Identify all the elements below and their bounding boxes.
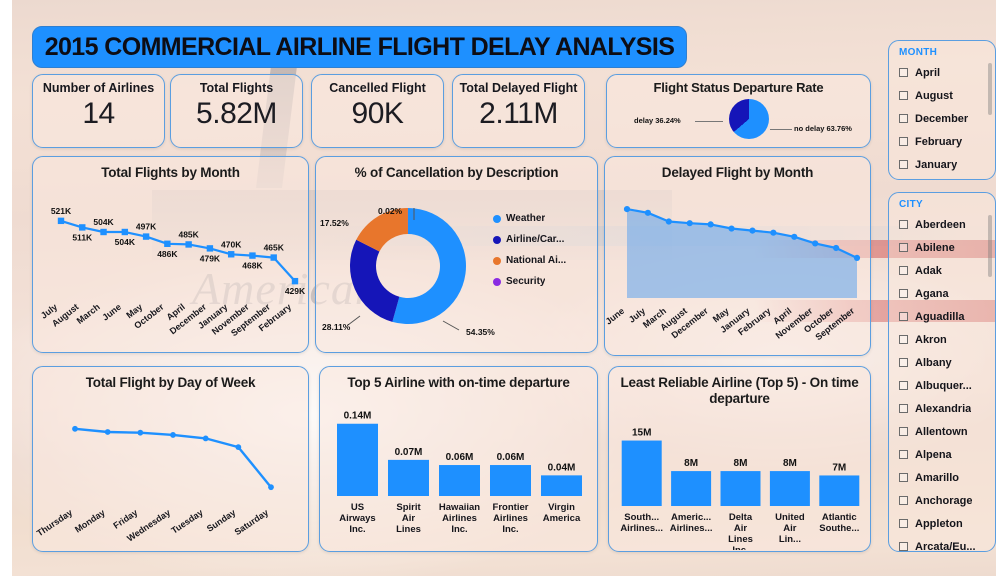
slicer-item[interactable]: Amarillo [899, 466, 991, 489]
data-label: 504K [115, 237, 136, 247]
bar[interactable] [337, 424, 378, 496]
pie-leader-line-delay [695, 121, 723, 122]
checkbox-icon[interactable] [899, 220, 908, 229]
checkbox-icon[interactable] [899, 381, 908, 390]
chart-card-top-5-airline-on-time[interactable]: Top 5 Airline with on-time departure 0.1… [319, 366, 598, 552]
bar-chart-top-5-airline-on-time[interactable]: 0.14MUSAirwaysInc.0.07MSpiritAirLines0.0… [320, 390, 599, 548]
bar-category-label: Lines [396, 524, 421, 535]
bar-data-label: 8M [684, 458, 698, 469]
kpi-card-number-of-airlines[interactable]: Number of Airlines 14 [32, 74, 165, 148]
bar-category-label: Virgin [548, 502, 575, 513]
slicer-month[interactable]: MONTH AprilAugustDecemberFebruaryJanuary [888, 40, 996, 180]
bar-data-label: 8M [783, 458, 797, 469]
legend-item[interactable]: National Ai... [493, 255, 589, 266]
slicer-item[interactable]: August [899, 84, 991, 107]
bar[interactable] [388, 460, 429, 496]
donut-legend: WeatherAirline/Car...National Ai...Secur… [493, 213, 589, 297]
x-axis-label: June [100, 302, 123, 323]
chart-title: Total Flight by Day of Week [33, 367, 308, 390]
legend-item[interactable]: Security [493, 276, 589, 287]
bar-category-label: Lines [728, 534, 753, 545]
kpi-value: 90K [312, 97, 443, 131]
data-point[interactable] [833, 245, 839, 251]
chart-title: Flight Status Departure Rate [607, 80, 870, 95]
slicer-item-label: April [915, 67, 940, 79]
bar-category-label: Lin... [779, 534, 801, 545]
slicer-item[interactable]: Appleton [899, 512, 991, 535]
checkbox-icon[interactable] [899, 519, 908, 528]
bar-category-label: South... [624, 512, 659, 523]
page-title: 2015 COMMERCIAL AIRLINE FLIGHT DELAY ANA… [45, 33, 675, 62]
pie-slices [729, 99, 769, 139]
checkbox-icon[interactable] [899, 358, 908, 367]
kpi-card-cancelled-flight[interactable]: Cancelled Flight 90K [311, 74, 444, 148]
data-point[interactable] [185, 241, 191, 247]
kpi-card-total-flights[interactable]: Total Flights 5.82M [170, 74, 303, 148]
checkbox-icon[interactable] [899, 137, 908, 146]
slicer-month-scrollbar[interactable] [988, 63, 992, 115]
data-point[interactable] [249, 252, 255, 258]
bar-category-label: Spirit [396, 502, 421, 513]
bar-category-label: Airlines [442, 513, 477, 524]
dashboard-title-banner: 2015 COMMERCIAL AIRLINE FLIGHT DELAY ANA… [32, 26, 687, 68]
bar-category-label: Inc. [349, 524, 365, 535]
area-fill [627, 209, 857, 298]
donut-leader-line [443, 321, 459, 330]
bar-category-label: Airlines... [620, 523, 663, 534]
donut-slice[interactable] [350, 240, 399, 322]
data-label: 497K [136, 222, 157, 232]
slicer-item-label: Allentown [915, 426, 968, 438]
data-label: 470K [221, 239, 242, 249]
bar-data-label: 0.07M [395, 447, 423, 458]
bar[interactable] [622, 441, 662, 506]
bar[interactable] [541, 475, 582, 496]
x-axis-label: Thursday [35, 507, 74, 538]
slicer-item-label: January [915, 159, 957, 171]
data-point[interactable] [624, 206, 630, 212]
slicer-city[interactable]: CITY AberdeenAbileneAdakAganaAguadillaAk… [888, 192, 996, 552]
legend-label: Security [506, 276, 545, 287]
chart-card-pct-cancellation-by-description[interactable]: % of Cancellation by Description 54.35%2… [315, 156, 598, 353]
data-point[interactable] [105, 429, 111, 435]
data-point[interactable] [728, 225, 734, 231]
x-axis-label: Saturday [233, 507, 271, 537]
kpi-label: Number of Airlines [33, 81, 164, 95]
slicer-item[interactable]: Aguadilla [899, 305, 991, 328]
checkbox-icon[interactable] [899, 243, 908, 252]
slicer-item-label: Adak [915, 265, 942, 277]
slicer-item[interactable]: Aberdeen [899, 213, 991, 236]
slicer-city-header: CITY [889, 193, 995, 213]
data-point[interactable] [100, 229, 106, 235]
chart-title: Total Flights by Month [33, 157, 308, 180]
slicer-item[interactable]: January [899, 153, 991, 176]
checkbox-icon[interactable] [899, 289, 908, 298]
slicer-item-label: February [915, 136, 962, 148]
kpi-value: 5.82M [171, 97, 302, 131]
data-label: 429K [285, 286, 306, 296]
x-axis-label: March [75, 302, 102, 326]
bar-data-label: 0.04M [548, 462, 576, 473]
bar-category-label: Air [734, 523, 748, 534]
chart-title: Top 5 Airline with on-time departure [320, 367, 597, 390]
donut-chart-cancellation[interactable]: 54.35%28.11%17.52%0.02% [316, 180, 496, 348]
legend-label: Airline/Car... [506, 234, 564, 245]
chart-card-total-flight-by-day-of-week[interactable]: Total Flight by Day of Week ThursdayMond… [32, 366, 309, 552]
bar-category-label: US [351, 502, 364, 513]
slicer-item-label: Arcata/Eu... [915, 541, 976, 553]
dashboard-canvas: American 2015 COMMERCIAL AIRLINE FLIGHT … [12, 0, 996, 576]
data-point[interactable] [292, 278, 298, 284]
kpi-label: Cancelled Flight [312, 81, 443, 95]
slicer-item[interactable]: Alpena [899, 443, 991, 466]
bar-category-label: Delta [729, 512, 753, 523]
checkbox-icon[interactable] [899, 91, 908, 100]
slicer-item-label: Alexandria [915, 403, 971, 415]
data-label: 504K [93, 217, 114, 227]
data-point[interactable] [203, 436, 209, 442]
slicer-item-label: Abilene [915, 242, 955, 254]
checkbox-icon[interactable] [899, 68, 908, 77]
checkbox-icon[interactable] [899, 404, 908, 413]
data-point[interactable] [122, 229, 128, 235]
slicer-item[interactable]: Anchorage [899, 489, 991, 512]
slicer-item[interactable]: April [899, 61, 991, 84]
legend-color-dot [493, 257, 501, 265]
bar-category-label: Americ... [671, 512, 711, 523]
checkbox-icon[interactable] [899, 450, 908, 459]
bar[interactable] [819, 475, 859, 506]
kpi-card-total-delayed-flight[interactable]: Total Delayed Flight 2.11M [452, 74, 585, 148]
kpi-label: Total Flights [171, 81, 302, 95]
bar[interactable] [721, 471, 761, 506]
data-point[interactable] [770, 230, 776, 236]
x-axis-label: Friday [111, 507, 139, 530]
bar[interactable] [439, 465, 480, 496]
bar-data-label: 0.06M [446, 452, 474, 463]
data-label: 485K [178, 229, 199, 239]
data-point[interactable] [228, 251, 234, 257]
slicer-city-list[interactable]: AberdeenAbileneAdakAganaAguadillaAkronAl… [889, 213, 995, 552]
bar-data-label: 7M [832, 462, 846, 473]
slicer-month-list[interactable]: AprilAugustDecemberFebruaryJanuary [889, 61, 995, 176]
bar-category-label: Inc. [451, 524, 467, 535]
slicer-item-label: December [915, 113, 968, 125]
data-label: 486K [157, 249, 178, 259]
legend-label: Weather [506, 213, 545, 224]
donut-data-label: 17.52% [320, 218, 349, 228]
pie-label-no-delay: no delay 63.76% [794, 124, 852, 133]
data-point[interactable] [235, 444, 241, 450]
kpi-label: Total Delayed Flight [453, 81, 584, 95]
bar-category-label: Atlantic [822, 512, 857, 523]
data-point[interactable] [666, 218, 672, 224]
data-point[interactable] [207, 245, 213, 251]
bar[interactable] [770, 471, 810, 506]
data-point[interactable] [791, 234, 797, 240]
slicer-item[interactable]: February [899, 130, 991, 153]
donut-data-label: 28.11% [322, 322, 351, 332]
slicer-item[interactable]: Allentown [899, 420, 991, 443]
slicer-item[interactable]: December [899, 107, 991, 130]
bar-category-label: Air [402, 513, 416, 524]
x-axis-label: Tuesday [169, 507, 204, 535]
data-label: 465K [264, 243, 285, 253]
chart-card-least-reliable-airline[interactable]: Least Reliable Airline (Top 5) - On time… [608, 366, 871, 552]
checkbox-icon[interactable] [899, 473, 908, 482]
slicer-item[interactable]: Agana [899, 282, 991, 305]
slicer-item-label: Appleton [915, 518, 963, 530]
data-label: 521K [51, 206, 72, 216]
slicer-item-label: Akron [915, 334, 947, 346]
bar-category-label: Airlines... [670, 523, 713, 534]
x-axis-label: Monday [73, 507, 107, 534]
slicer-item-label: Aberdeen [915, 219, 966, 231]
checkbox-icon[interactable] [899, 542, 908, 551]
legend-color-dot [493, 236, 501, 244]
data-point[interactable] [268, 484, 274, 490]
bar-data-label: 8M [734, 458, 748, 469]
bar-data-label: 0.06M [497, 452, 525, 463]
checkbox-icon[interactable] [899, 427, 908, 436]
chart-title: % of Cancellation by Description [316, 157, 597, 180]
line-chart-total-flights-by-month[interactable]: 521KJuly511KAugust504KMarch504KJune497KM… [33, 180, 310, 348]
bar-category-label: Airways [339, 513, 375, 524]
bar-category-label: Inc. [502, 524, 518, 535]
legend-color-dot [493, 278, 501, 286]
slicer-item-label: Albuquer... [915, 380, 972, 392]
pie-leader-line-no-delay [770, 129, 792, 130]
data-point[interactable] [749, 228, 755, 234]
chart-title: Delayed Flight by Month [605, 157, 870, 180]
slicer-city-scrollbar[interactable] [988, 215, 992, 277]
pie-label-delay: delay 36.24% [634, 116, 681, 125]
chart-card-flight-status-departure-rate[interactable]: Flight Status Departure Rate delay 36.24… [606, 74, 871, 148]
bar-category-label: America [543, 513, 581, 524]
data-label: 479K [200, 253, 221, 263]
data-point[interactable] [708, 221, 714, 227]
bar-category-label: Southe... [819, 523, 859, 534]
data-point[interactable] [854, 255, 860, 261]
slicer-item-label: Anchorage [915, 495, 972, 507]
legend-color-dot [493, 215, 501, 223]
data-point[interactable] [137, 430, 143, 436]
data-point[interactable] [143, 233, 149, 239]
chart-card-delayed-flight-by-month[interactable]: Delayed Flight by Month JuneJulyMarchAug… [604, 156, 871, 356]
data-point[interactable] [271, 254, 277, 260]
data-label: 511K [72, 232, 93, 242]
bar-data-label: 0.14M [344, 411, 372, 422]
checkbox-icon[interactable] [899, 312, 908, 321]
chart-card-total-flights-by-month[interactable]: Total Flights by Month 521KJuly511KAugus… [32, 156, 309, 353]
bar-category-label: Inc. [732, 545, 748, 550]
slicer-item-label: Aguadilla [915, 311, 965, 323]
bar-category-label: Hawaiian [439, 502, 480, 513]
bar-category-label: Airlines [493, 513, 528, 524]
donut-data-label: 54.35% [466, 327, 495, 337]
slicer-item-label: Alpena [915, 449, 952, 461]
data-point[interactable] [687, 220, 693, 226]
data-point[interactable] [170, 432, 176, 438]
area-chart-delayed-flight-by-month[interactable]: JuneJulyMarchAugustDecemberMayJanuaryFeb… [605, 180, 872, 350]
data-point[interactable] [812, 240, 818, 246]
slicer-item[interactable]: Alexandria [899, 397, 991, 420]
kpi-value: 2.11M [453, 97, 584, 131]
slicer-month-header: MONTH [889, 41, 995, 61]
slicer-item[interactable]: Albuquer... [899, 374, 991, 397]
bar-category-label: United [775, 512, 805, 523]
slicer-item-label: Albany [915, 357, 952, 369]
slicer-item-label: Agana [915, 288, 949, 300]
data-point[interactable] [79, 224, 85, 230]
legend-label: National Ai... [506, 255, 566, 266]
slicer-item[interactable]: Akron [899, 328, 991, 351]
checkbox-icon[interactable] [899, 114, 908, 123]
x-axis-label: June [605, 306, 626, 327]
slicer-item-label: August [915, 90, 953, 102]
data-label: 468K [242, 261, 263, 271]
data-point[interactable] [645, 210, 651, 216]
checkbox-icon[interactable] [899, 335, 908, 344]
bar-category-label: Air [783, 523, 797, 534]
legend-item[interactable]: Weather [493, 213, 589, 224]
checkbox-icon[interactable] [899, 496, 908, 505]
chart-title: Least Reliable Airline (Top 5) - On time… [609, 367, 870, 406]
bar[interactable] [671, 471, 711, 506]
data-point[interactable] [72, 426, 78, 432]
checkbox-icon[interactable] [899, 160, 908, 169]
bar-chart-least-reliable-airline[interactable]: 15MSouth...Airlines...8MAmeric...Airline… [609, 406, 872, 550]
bar[interactable] [490, 465, 531, 496]
slicer-item-label: Amarillo [915, 472, 959, 484]
legend-item[interactable]: Airline/Car... [493, 234, 589, 245]
bar-data-label: 15M [632, 428, 651, 439]
checkbox-icon[interactable] [899, 266, 908, 275]
donut-data-label: 0.02% [378, 206, 403, 216]
slicer-item[interactable]: Abilene [899, 236, 991, 259]
bar-category-label: Frontier [493, 502, 529, 513]
kpi-value: 14 [33, 97, 164, 131]
pie-chart-flight-status[interactable]: delay 36.24% no delay 63.76% [607, 95, 870, 141]
line-chart-total-flight-by-day-of-week[interactable]: ThursdayMondayFridayWednesdayTuesdaySund… [33, 390, 310, 548]
slicer-item[interactable]: Arcata/Eu... [899, 535, 991, 552]
slicer-item[interactable]: Albany [899, 351, 991, 374]
slicer-item[interactable]: Adak [899, 259, 991, 282]
data-point[interactable] [58, 218, 64, 224]
data-point[interactable] [164, 241, 170, 247]
